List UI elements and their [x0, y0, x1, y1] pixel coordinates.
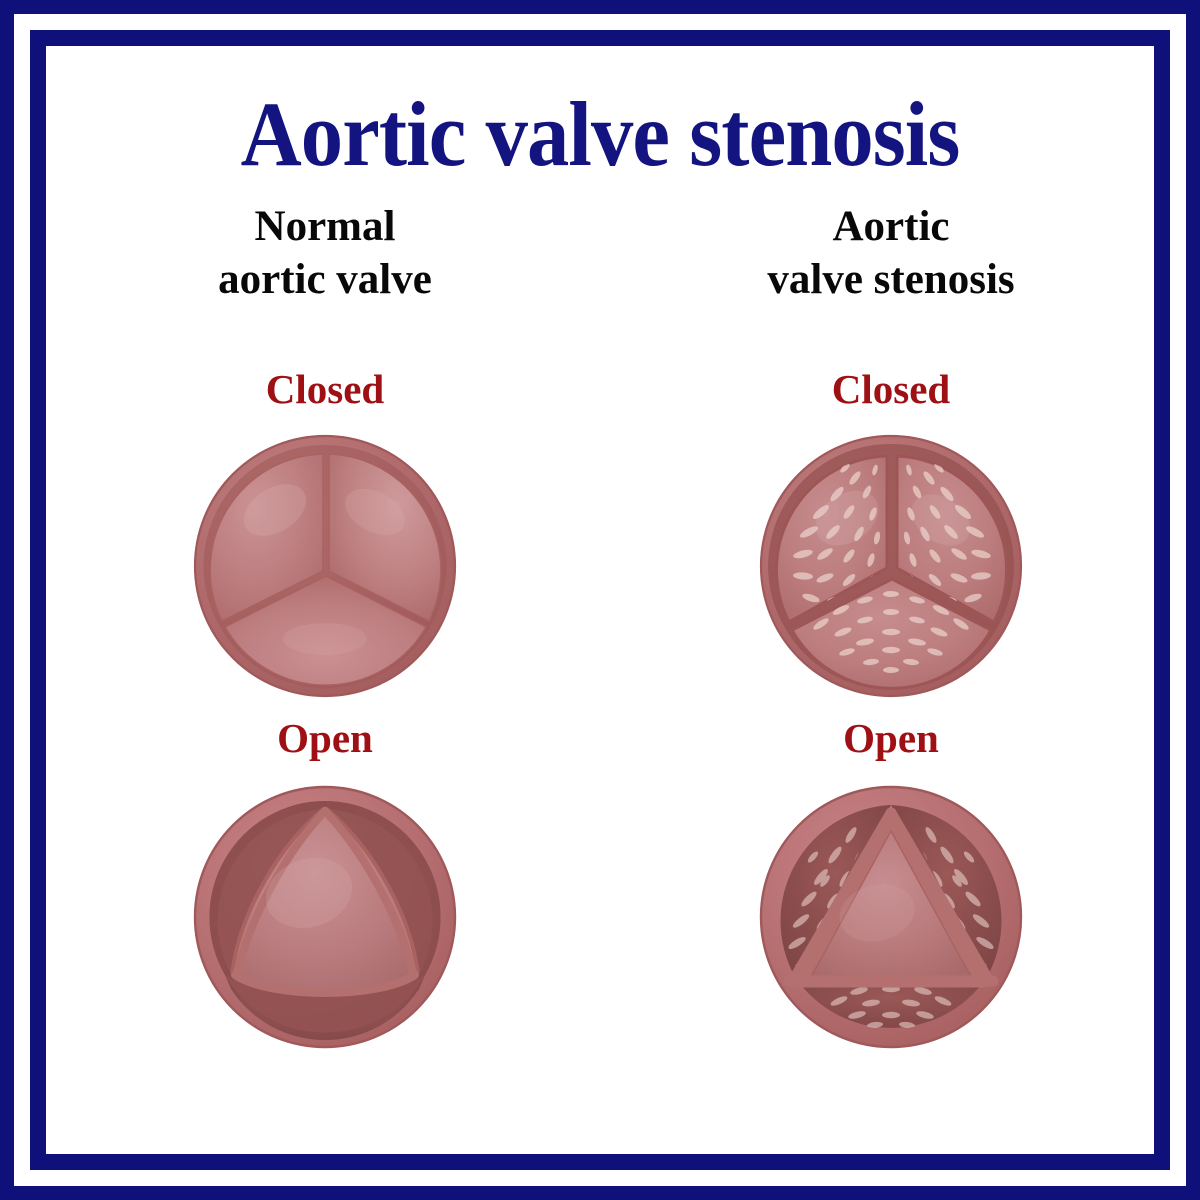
diagram-normal-valve-closed [90, 434, 560, 698]
column-heading-normal-line1: Normal [255, 203, 396, 250]
column-heading-stenosis-line1: Aortic [833, 203, 950, 250]
column-heading-normal-line2: aortic valve [90, 254, 560, 307]
column-heading-normal: Normal aortic valve [90, 201, 560, 307]
poster-border-gap: Aortic valve stenosis Normal aortic valv… [14, 14, 1186, 1186]
state-label-stenosis-open: Open [656, 718, 1126, 759]
poster-outer-border: Aortic valve stenosis Normal aortic valv… [0, 0, 1200, 1200]
state-label-stenosis-closed: Closed [656, 369, 1126, 410]
column-heading-stenosis-line2: valve stenosis [656, 254, 1126, 307]
column-normal: Normal aortic valve Closed [90, 201, 560, 1049]
diagram-stenotic-valve-open [656, 785, 1126, 1049]
poster-inner-border: Aortic valve stenosis Normal aortic valv… [30, 30, 1170, 1170]
state-label-normal-closed: Closed [90, 369, 560, 410]
column-heading-stenosis: Aortic valve stenosis [656, 201, 1126, 307]
state-label-normal-open: Open [90, 718, 560, 759]
diagram-normal-valve-open [90, 785, 560, 1049]
diagram-stenotic-valve-closed [656, 434, 1126, 698]
column-stenosis: Aortic valve stenosis Closed [656, 201, 1126, 1049]
poster-canvas: Aortic valve stenosis Normal aortic valv… [46, 46, 1154, 1154]
page-title: Aortic valve stenosis [90, 88, 1109, 180]
